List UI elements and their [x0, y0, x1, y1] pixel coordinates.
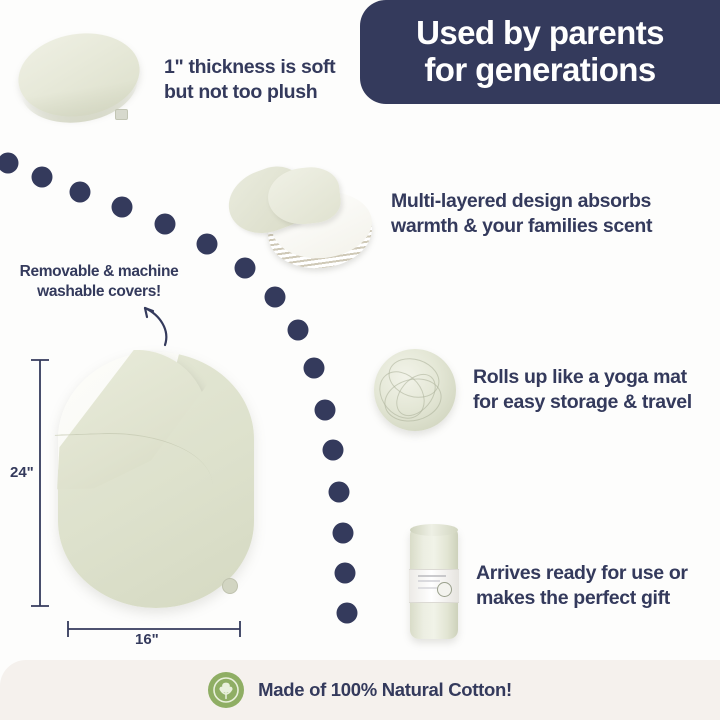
- dimension-label-height: 24": [10, 464, 34, 481]
- cotton-boll-icon: [208, 672, 244, 708]
- infographic-canvas: Used by parents for generations: [0, 0, 720, 720]
- footer-bar: Made of 100% Natural Cotton!: [0, 660, 720, 720]
- footer-text: Made of 100% Natural Cotton!: [258, 679, 512, 701]
- dimension-label-width: 16": [135, 631, 159, 648]
- dimension-lines: [0, 0, 720, 720]
